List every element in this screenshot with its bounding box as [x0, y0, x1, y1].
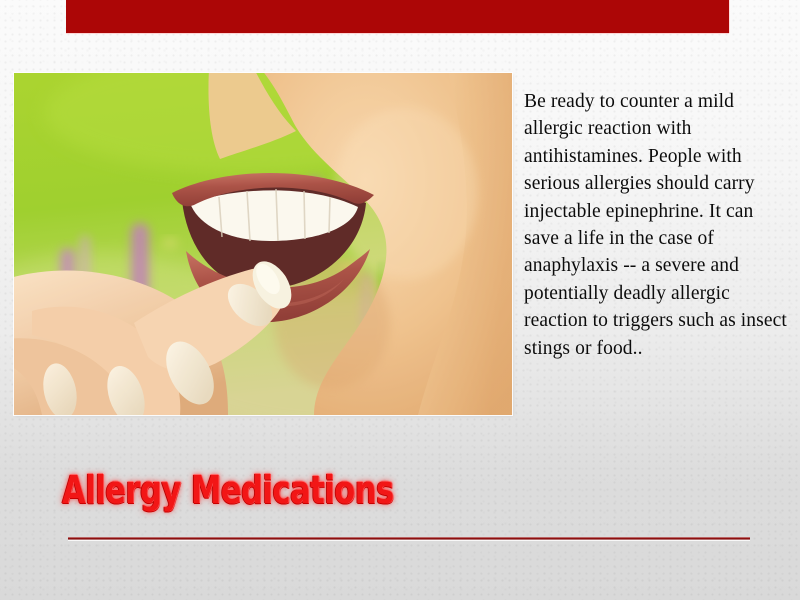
body-paragraph: Be ready to counter a mild allergic reac… — [524, 88, 792, 362]
slide-title: Allergy Medications — [62, 466, 622, 514]
title-divider-rule — [68, 537, 750, 540]
body-text-block: Be ready to counter a mild allergic reac… — [524, 88, 792, 362]
photo-illustration — [14, 73, 512, 415]
allergy-photo — [14, 73, 512, 415]
slide: Be ready to counter a mild allergic reac… — [0, 0, 800, 600]
title-area: Allergy Medications — [62, 466, 762, 514]
top-red-banner — [66, 0, 729, 33]
